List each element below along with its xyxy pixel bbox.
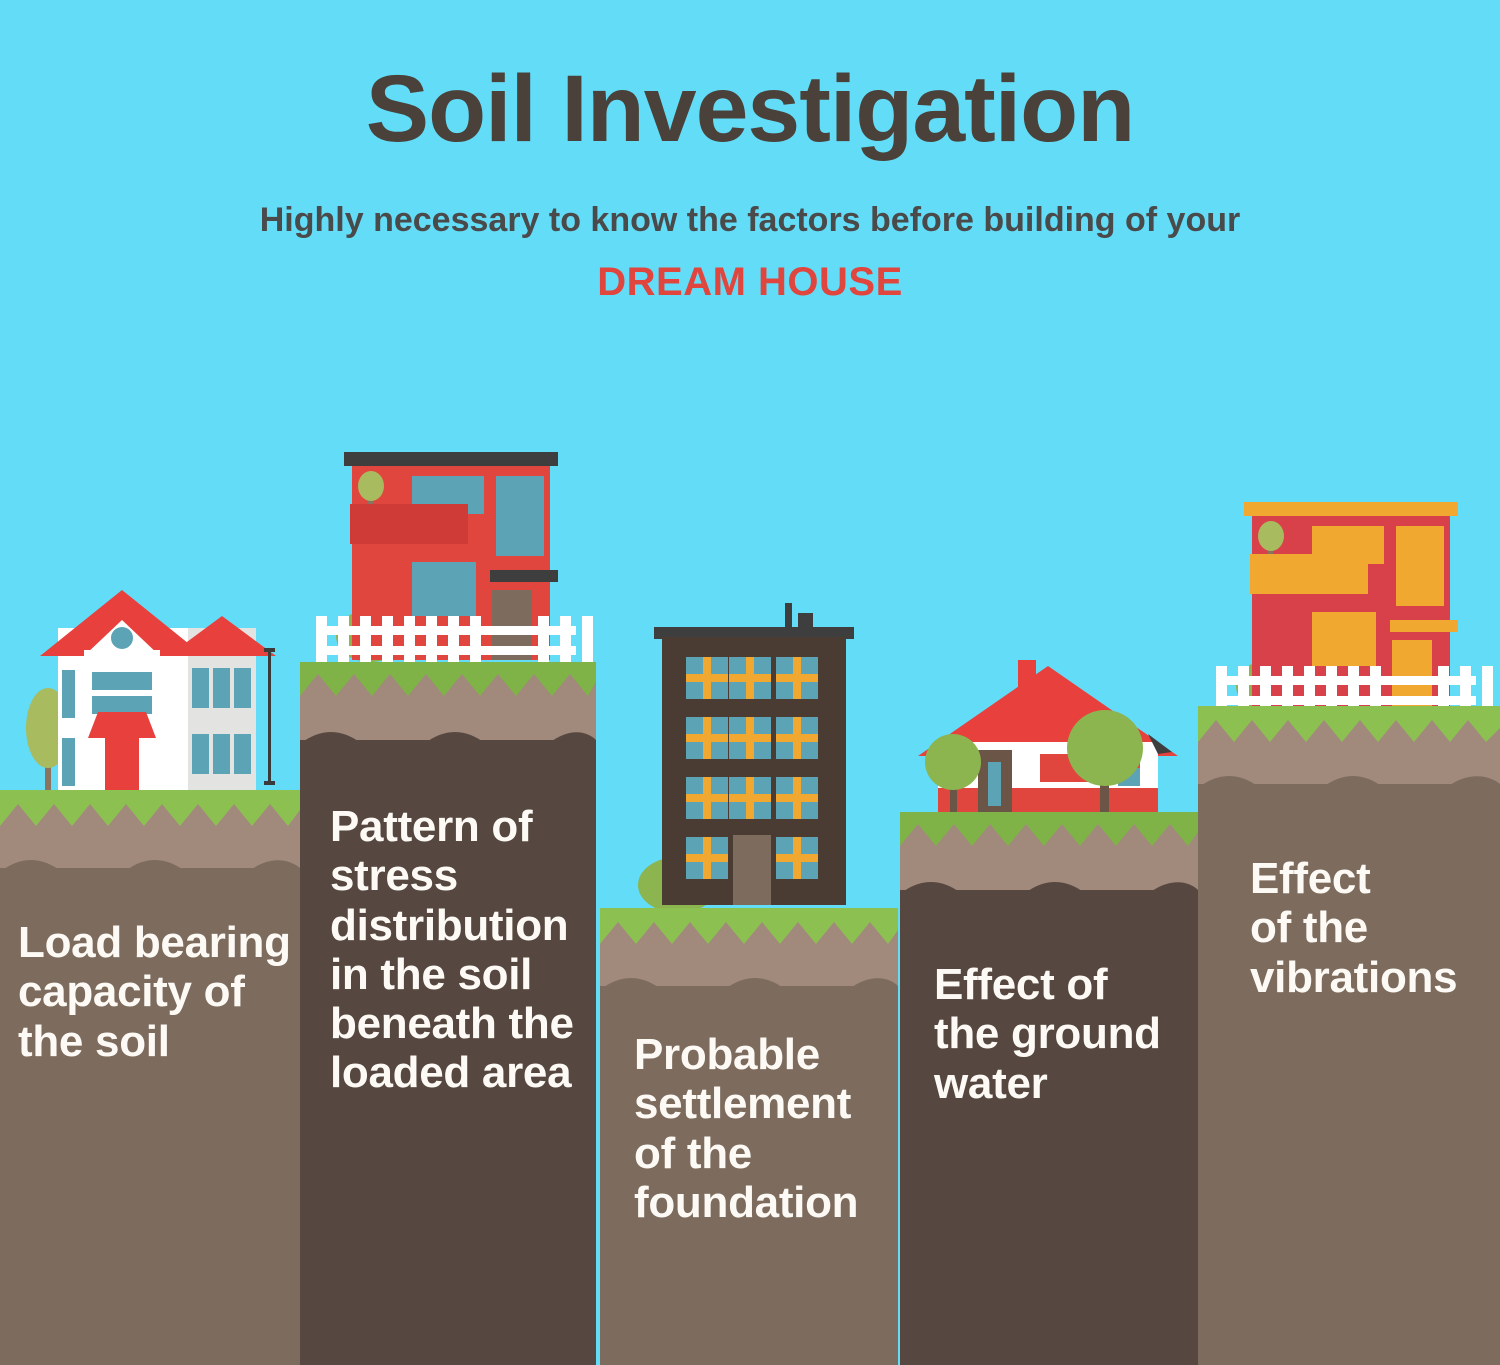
soil-strata-5	[1198, 706, 1500, 811]
infographic-canvas: Soil Investigation Highly necessary to k…	[0, 0, 1500, 1365]
column-label-load-bearing: Load bearing capacity of the soil	[18, 918, 296, 1066]
scene-modern-orange-house	[1200, 490, 1500, 718]
page-title: Soil Investigation	[0, 62, 1500, 157]
soil-strata-4	[900, 812, 1198, 917]
page-subtitle: Highly necessary to know the factors bef…	[0, 199, 1500, 242]
highlight-text: DREAM HOUSE	[0, 260, 1500, 305]
column-label-ground-water: Effect of the ground water	[934, 960, 1198, 1108]
scene-cottage	[900, 650, 1200, 820]
column-label-stress-distribution: Pattern of stress distribution in the so…	[330, 802, 596, 1098]
scene-classic-white-house	[0, 560, 300, 800]
soil-strata-3	[600, 908, 898, 1013]
soil-column-settlement: Probable settlement of the foundation	[600, 908, 898, 1365]
column-label-settlement: Probable settlement of the foundation	[634, 1030, 896, 1227]
scene-apartment-block	[600, 595, 900, 915]
soil-strata-2	[300, 662, 596, 767]
soil-column-load-bearing: Load bearing capacity of the soil	[0, 790, 300, 1365]
scene-modern-red-house	[300, 440, 600, 668]
soil-column-ground-water: Effect of the ground water	[900, 812, 1198, 1365]
header: Soil Investigation Highly necessary to k…	[0, 0, 1500, 305]
soil-column-stress-distribution: Pattern of stress distribution in the so…	[300, 662, 596, 1365]
soil-strata-1	[0, 790, 300, 895]
soil-column-vibrations: Effect of the vibrations	[1198, 706, 1500, 1365]
column-label-vibrations: Effect of the vibrations	[1250, 854, 1498, 1002]
